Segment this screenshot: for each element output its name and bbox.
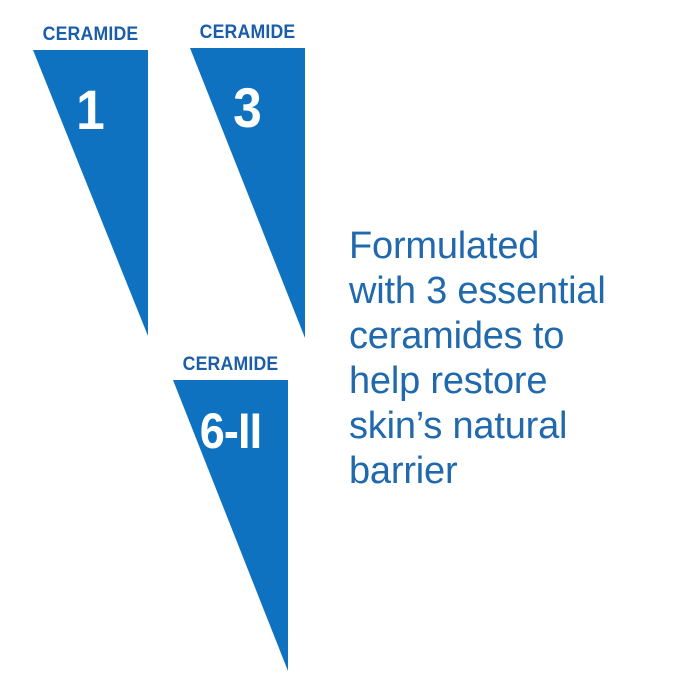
- ceramide-3-number: 3: [195, 80, 301, 136]
- marketing-copy: Formulated with 3 essential ceramides to…: [349, 224, 649, 494]
- copy-line: barrier: [349, 449, 649, 494]
- ceramide-6ii-number: 6-II: [179, 406, 283, 456]
- copy-line: with 3 essential: [349, 269, 649, 314]
- copy-line: Formulated: [349, 224, 649, 269]
- ceramide-wedge-6ii: CERAMIDE 6-II: [173, 354, 288, 671]
- ceramide-3-label: CERAMIDE: [194, 22, 301, 44]
- ceramide-6ii-label: CERAMIDE: [177, 354, 284, 376]
- copy-line: skin’s natural: [349, 404, 649, 449]
- ceramide-wedge-3: CERAMIDE 3: [190, 22, 305, 338]
- ceramide-wedge-1: CERAMIDE 1: [33, 24, 148, 336]
- copy-line: help restore: [349, 359, 649, 404]
- ceramide-1-label: CERAMIDE: [37, 24, 144, 46]
- ceramide-infographic: CERAMIDE 1 CERAMIDE 3 CERAMIDE 6-II Form…: [0, 0, 679, 679]
- copy-line: ceramides to: [349, 314, 649, 359]
- ceramide-1-number: 1: [38, 82, 144, 138]
